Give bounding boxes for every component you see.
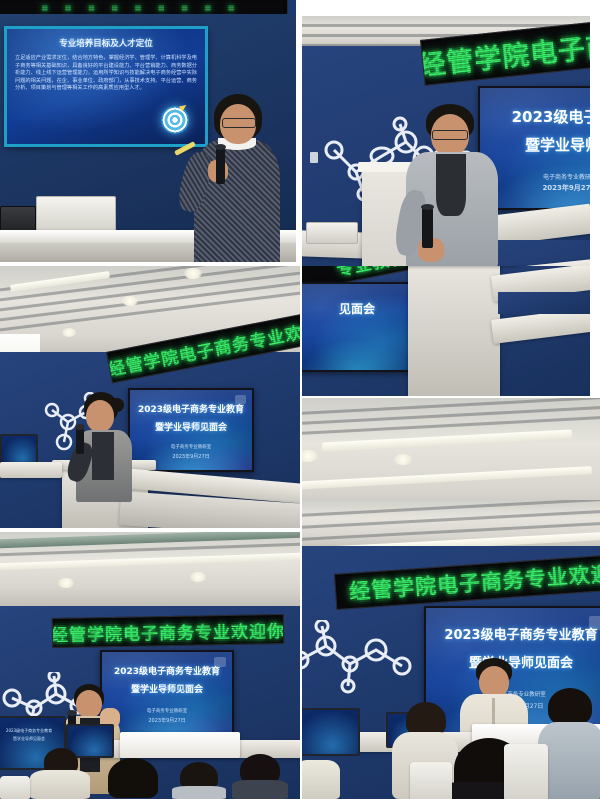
ceiling-downlight — [394, 454, 412, 465]
screen-title-line1: 2023级电子商务专业教育 — [426, 624, 600, 643]
audience-hair — [108, 758, 158, 798]
audience-torso — [30, 770, 90, 799]
collage-gap — [0, 262, 300, 266]
led-banner-text: ▪ ▪ ▪ ▪ ▪ ▪ ▪ ▪ ▪ — [41, 1, 241, 14]
ceiling-downlight — [122, 296, 138, 306]
collage-gap — [302, 396, 600, 398]
panel-middle-left: 经管学院电子商务专业欢迎你 2023级电子商务专业教育 暨学业导师见面会 电子商… — [0, 266, 300, 530]
slide-title: 专业培养目标及人才定位 — [7, 37, 205, 49]
ceiling-strip-light — [0, 552, 300, 570]
collage-gap — [300, 266, 302, 799]
panel-bottom-right: 经管学院电子商务专业欢迎 2023级电子商务专业教育 暨学业导师见面会 电子商务 — [302, 500, 600, 799]
glasses-icon — [432, 130, 468, 140]
audience-member — [98, 758, 168, 799]
panel-middle-left-overflow: 专业教育 见面会 — [302, 266, 600, 398]
glasses-icon — [222, 118, 256, 128]
monitor-glow — [302, 710, 358, 754]
audience-member — [232, 754, 288, 799]
ceiling-downlight — [190, 572, 206, 582]
ceiling-downlight — [302, 450, 318, 462]
monitor-text-line1: 2023级电子商务专业教育 — [0, 728, 60, 734]
wall-socket — [310, 152, 318, 163]
ceiling-downlight — [184, 268, 202, 279]
collage-gap — [590, 0, 600, 398]
chair-back — [0, 776, 30, 799]
chair-back — [410, 762, 452, 799]
led-banner-text: 专业教育 — [331, 398, 383, 409]
collage-gap — [302, 0, 600, 16]
teacher-head — [76, 690, 102, 718]
audience-torso — [302, 760, 340, 799]
led-banner: 经管学院电子商务专业欢迎你 — [52, 614, 284, 648]
screen-subtitle-dept: 电子商务专业教研室 — [130, 444, 252, 450]
ceiling-strip-light — [322, 429, 572, 451]
audience-member — [302, 760, 340, 799]
molecule-wall-graphic — [302, 620, 422, 696]
monitor-text-line2: 暨学业导师见面会 — [0, 736, 60, 742]
microphone — [422, 208, 433, 248]
white-board-ledge — [120, 732, 240, 758]
ceiling-slat — [302, 500, 600, 520]
ceiling-downlight — [58, 578, 74, 588]
ceiling — [302, 500, 600, 552]
speaker-shirt — [436, 154, 466, 216]
molecule-svg — [302, 620, 422, 696]
desk-monitor — [302, 708, 360, 756]
ceiling — [0, 532, 300, 610]
presentation-screen-fragment: 见面会 — [302, 282, 418, 372]
screen-title-line2: 暨学业导师见面会 — [130, 420, 252, 433]
teacher-head — [86, 400, 114, 432]
screen-title-line2: 见面会 — [302, 300, 416, 317]
audience-member — [172, 762, 226, 799]
audience-torso — [172, 786, 226, 799]
collage-gap — [296, 0, 302, 266]
photo-collage: ▪ ▪ ▪ ▪ ▪ ▪ ▪ ▪ ▪ 专业培养目标及人才定位 立足适应产业需求定位… — [0, 0, 600, 799]
microphone — [76, 428, 84, 454]
monitor-glow — [2, 436, 36, 464]
side-desk — [0, 462, 62, 478]
audience-member — [30, 748, 90, 799]
presenter-teacher — [178, 88, 296, 266]
lectern — [408, 266, 500, 398]
wall-strip — [498, 292, 600, 314]
screen-title-line1: 2023级电子商务专业教育 — [130, 402, 252, 415]
collage-gap — [0, 528, 300, 532]
audience-hair — [548, 688, 592, 726]
screen-title-line1: 2023级电子商务专业教育 — [102, 664, 232, 677]
microphone — [216, 148, 225, 184]
ceiling-strip-light — [302, 466, 592, 490]
audience-torso — [232, 780, 288, 799]
panel-bottom-left: 经管学院电子商务专业欢迎你 2023级电子商务专业教育 暨学业导师见面会 电子商… — [0, 532, 300, 799]
teacher-speaker — [70, 392, 140, 502]
screen-subtitle-date: 2023年9月27日 — [130, 453, 252, 460]
teacher-inner-top — [92, 432, 114, 480]
chair-back — [504, 744, 548, 799]
slide-body-text: 立足适应产业需求定位，结合地方特色，掌握经济学、管理学、计算机科学及电子商务等相… — [15, 55, 197, 93]
screen-wave-cyan — [302, 328, 418, 372]
ceiling-downlight — [62, 328, 76, 337]
led-banner-text: 经管学院电子商务专业欢迎你 — [52, 616, 284, 645]
panel-top-left: ▪ ▪ ▪ ▪ ▪ ▪ ▪ ▪ ▪ 专业培养目标及人才定位 立足适应产业需求定位… — [0, 0, 296, 266]
desk-equipment — [306, 222, 358, 244]
